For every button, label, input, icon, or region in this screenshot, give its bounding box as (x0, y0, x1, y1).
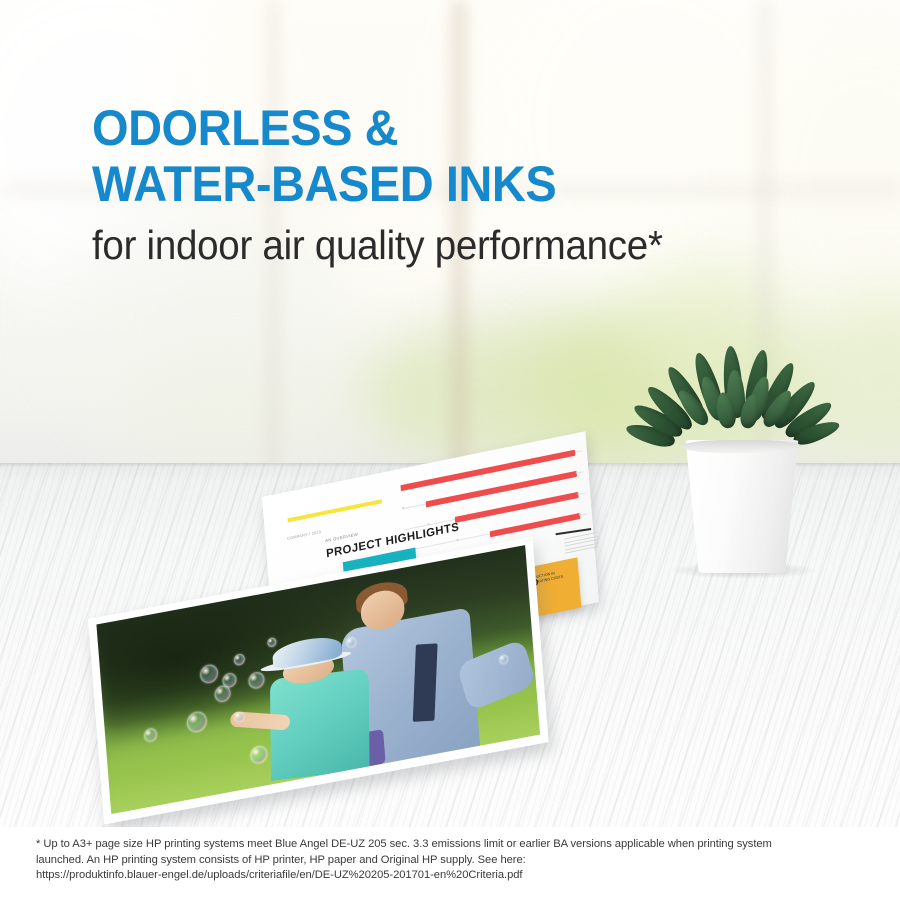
headline-line-1: ODORLESS & (92, 100, 825, 156)
headline-line-2: WATER-BASED INKS (92, 156, 825, 212)
foliage-blur (120, 355, 350, 475)
photo-woman-tie (413, 644, 438, 722)
bar-dot (427, 523, 429, 526)
footnote-line-1: * Up to A3+ page size HP printing system… (36, 837, 864, 853)
bar-dot (456, 539, 458, 542)
subheadline: for indoor air quality performance* (92, 219, 825, 271)
bar-dot (576, 472, 578, 475)
potted-plant (660, 330, 835, 490)
plant-pot (682, 440, 802, 573)
legal-footnote: * Up to A3+ page size HP printing system… (0, 827, 900, 900)
bar-dot (402, 507, 404, 510)
bar-dot (579, 514, 581, 517)
footnote-line-3: https://produktinfo.blauer-engel.de/uplo… (36, 868, 864, 884)
pot-rim (682, 440, 802, 453)
headline-block: ODORLESS & WATER-BASED INKS for indoor a… (92, 100, 872, 271)
bar-dot (577, 493, 579, 496)
footnote-line-2: launched. An HP printing system consists… (36, 853, 864, 869)
promo-banner: COMPANY / 2019 AN OVERVIEW PROJECT HIGHL… (0, 0, 900, 900)
